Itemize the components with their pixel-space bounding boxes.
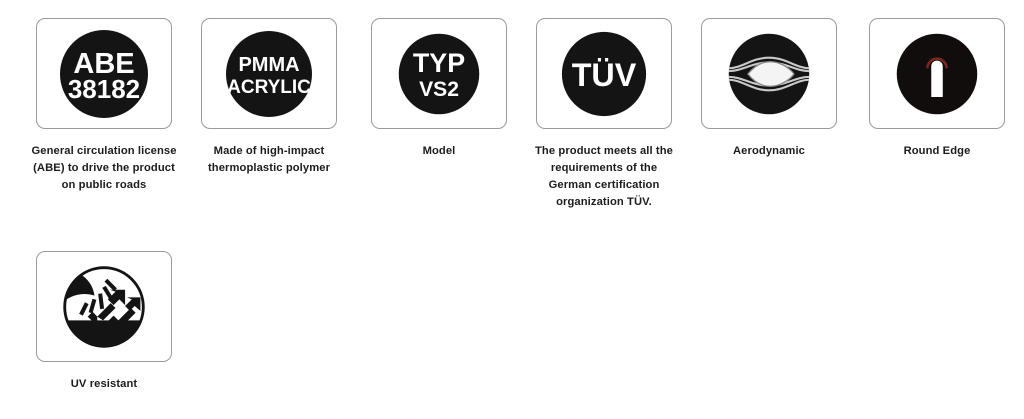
- abe-line2: 38182: [68, 74, 140, 104]
- pmma-line1: PMMA: [238, 54, 299, 76]
- feature-caption: Made of high-impact thermoplastic polyme…: [196, 143, 342, 177]
- feature-item-aerodynamic: Aerodynamic: [701, 18, 837, 160]
- abe-badge-icon: ABE 38182: [36, 18, 172, 129]
- pmma-line2: ACRYLIC: [227, 77, 311, 98]
- feature-badge-board: ABE 38182 General circulation license (A…: [0, 0, 1024, 419]
- typ-line2: VS2: [419, 78, 459, 101]
- feature-item-tuv: TÜV The product meets all the requiremen…: [536, 18, 672, 211]
- feature-caption: The product meets all the requirements o…: [531, 143, 677, 211]
- feature-item-typ: TYP VS2 Model: [371, 18, 507, 160]
- feature-caption: Model: [366, 143, 512, 160]
- feature-item-pmma: PMMA ACRYLIC Made of high-impact thermop…: [201, 18, 337, 177]
- feature-caption: Round Edge: [864, 143, 1010, 160]
- feature-item-round-edge: Round Edge: [869, 18, 1005, 160]
- feature-caption: General circulation license (ABE) to dri…: [31, 143, 177, 194]
- pmma-acrylic-badge-icon: PMMA ACRYLIC: [201, 18, 337, 129]
- feature-item-uv-resistant: UV resistant: [36, 251, 172, 393]
- round-edge-icon: [869, 18, 1005, 129]
- typ-vs2-badge-icon: TYP VS2: [371, 18, 507, 129]
- uv-resistant-sun-icon: [36, 251, 172, 362]
- feature-item-abe: ABE 38182 General circulation license (A…: [36, 18, 172, 194]
- tuv-line1: TÜV: [572, 56, 637, 92]
- aerodynamic-airfoil-icon: [701, 18, 837, 129]
- feature-caption: UV resistant: [31, 376, 177, 393]
- tuv-badge-icon: TÜV: [536, 18, 672, 129]
- feature-caption: Aerodynamic: [696, 143, 842, 160]
- typ-line1: TYP: [413, 48, 465, 78]
